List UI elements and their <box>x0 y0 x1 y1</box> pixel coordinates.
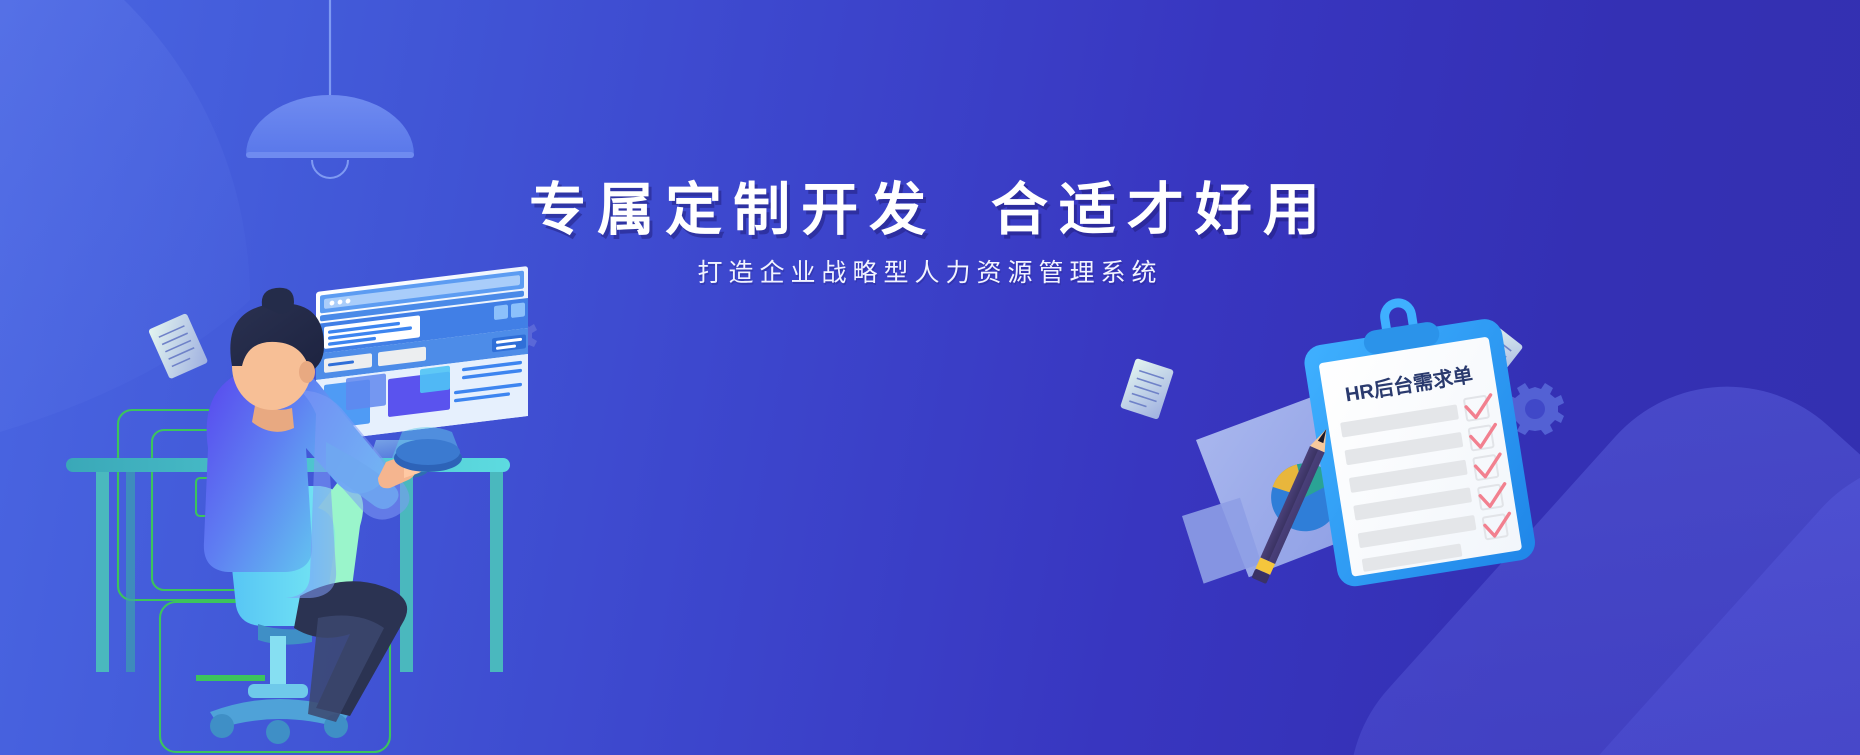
hr-clipboard-illustration: HR后台需求单 <box>0 0 1860 755</box>
page-subtitle: 打造企业战略型人力资源管理系统 <box>0 261 1860 286</box>
hero-banner: HR后台需求单 <box>0 0 1860 755</box>
page-title: 专属定制开发 合适才好用 <box>0 182 1860 239</box>
banner-copy: 专属定制开发 合适才好用 打造企业战略型人力资源管理系统 <box>0 182 1860 286</box>
